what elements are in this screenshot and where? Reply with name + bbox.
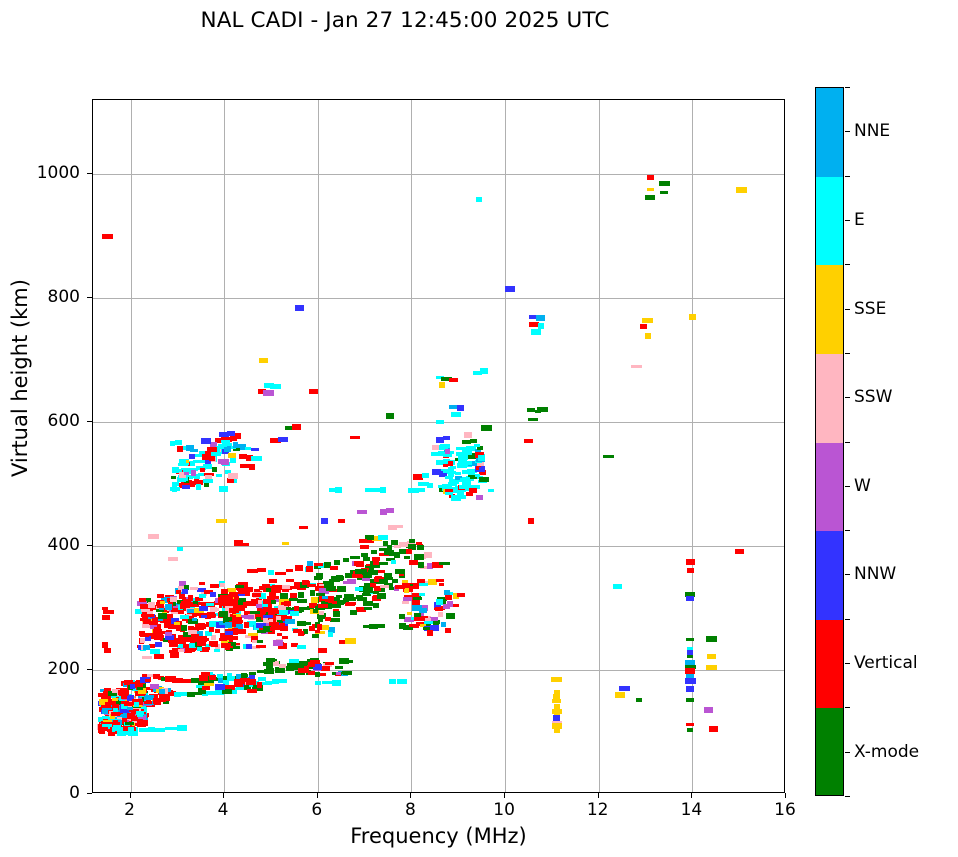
data-point [146, 700, 151, 704]
data-point [266, 658, 275, 662]
data-point [418, 562, 424, 568]
data-point [346, 602, 356, 605]
data-point [237, 606, 245, 611]
data-point [233, 442, 238, 448]
data-point [165, 604, 172, 610]
data-point [263, 390, 274, 396]
data-point [330, 618, 340, 622]
data-point [210, 592, 216, 597]
data-point [150, 684, 159, 689]
data-point [315, 672, 320, 677]
data-point [273, 640, 283, 646]
data-point [139, 598, 146, 602]
data-point [200, 468, 205, 472]
colorbar-boundary-tick [845, 176, 850, 177]
data-point [551, 677, 562, 682]
data-point [148, 602, 155, 608]
data-point [416, 488, 425, 492]
data-point [280, 626, 288, 631]
colorbar-segment-sse[interactable] [816, 265, 843, 354]
colorbar-label-vertical: Vertical [854, 653, 918, 673]
data-point [312, 634, 319, 638]
data-point [380, 487, 386, 493]
data-point [191, 634, 199, 637]
colorbar-segment-ssw[interactable] [816, 354, 843, 443]
data-point [505, 286, 515, 292]
data-point [233, 646, 240, 649]
data-point [212, 467, 217, 472]
data-point [194, 476, 200, 479]
data-point [689, 314, 696, 320]
data-point [354, 561, 364, 566]
data-point [424, 621, 433, 624]
data-point [199, 675, 208, 681]
data-point [207, 612, 215, 618]
data-point [197, 642, 206, 646]
data-point [178, 649, 184, 652]
data-point [279, 679, 287, 683]
data-point [462, 480, 471, 485]
data-point [195, 624, 201, 629]
data-point [295, 305, 304, 311]
data-point [306, 566, 313, 572]
data-point [414, 617, 421, 621]
data-point [318, 604, 328, 608]
data-point [181, 625, 187, 631]
data-point [476, 495, 483, 500]
data-point [456, 447, 466, 450]
data-point [130, 684, 135, 689]
data-point [470, 439, 477, 443]
data-point [386, 508, 394, 513]
data-point [399, 614, 405, 619]
data-point [451, 495, 461, 501]
data-point [127, 707, 133, 710]
data-point [357, 569, 367, 572]
data-point [258, 677, 266, 681]
data-point [209, 456, 215, 461]
data-point [176, 590, 181, 594]
colorbar-segment-nne[interactable] [816, 88, 843, 177]
colorbar-label-w: W [854, 476, 871, 496]
colorbar-label-x-mode: X-mode [854, 742, 919, 762]
data-point [155, 642, 162, 647]
data-point [619, 686, 630, 691]
data-point [199, 606, 208, 611]
colorbar-tick [845, 220, 850, 221]
colorbar-boundary-tick [845, 707, 850, 708]
colorbar-label-nnw: NNW [854, 564, 896, 584]
data-point [104, 648, 111, 653]
data-point [157, 605, 164, 608]
x-tick [223, 793, 224, 798]
data-point [290, 611, 299, 616]
data-point [280, 593, 288, 599]
data-point [102, 615, 110, 620]
data-point [373, 603, 379, 608]
gridline-horizontal [93, 174, 784, 175]
x-tick [410, 793, 411, 798]
data-point [154, 627, 161, 631]
data-point [211, 635, 216, 640]
data-point [436, 420, 444, 424]
data-point [328, 632, 333, 637]
data-point [319, 611, 324, 615]
data-point [418, 482, 429, 486]
data-point [707, 654, 716, 659]
data-point [148, 534, 159, 539]
data-point [330, 566, 338, 570]
data-point [372, 557, 380, 561]
data-point [197, 647, 202, 651]
data-point [315, 681, 321, 685]
data-point [126, 702, 132, 705]
y-tick-label: 200 [0, 659, 80, 679]
data-point [447, 601, 453, 607]
data-point [285, 619, 295, 624]
x-tick [317, 793, 318, 798]
x-tick-label: 8 [405, 800, 416, 820]
data-point [373, 488, 380, 492]
data-point [293, 663, 299, 666]
data-point [419, 583, 428, 586]
data-point [137, 687, 143, 690]
data-point [171, 476, 176, 479]
data-point [350, 610, 357, 615]
data-point [417, 545, 424, 550]
data-point [337, 586, 346, 592]
data-point [168, 625, 175, 629]
data-point [735, 549, 744, 554]
data-point [235, 433, 241, 439]
data-point [378, 535, 388, 540]
data-point [159, 689, 165, 694]
plot-area[interactable] [92, 99, 785, 793]
data-point [686, 698, 694, 702]
data-point [204, 483, 209, 487]
data-point [686, 596, 694, 601]
data-point [377, 593, 386, 599]
colorbar-segment-x-mode[interactable] [816, 708, 843, 796]
data-point [445, 476, 453, 479]
data-point [478, 455, 485, 461]
colorbar-boundary-tick [845, 353, 850, 354]
data-point [412, 605, 422, 611]
data-point [280, 623, 285, 627]
data-point [271, 600, 276, 604]
data-point [174, 622, 180, 625]
data-point [350, 556, 360, 559]
data-point [404, 556, 410, 559]
colorbar-tick [845, 663, 850, 664]
data-point [352, 574, 362, 578]
data-point [234, 679, 242, 685]
data-point [480, 368, 488, 374]
data-point [380, 585, 389, 588]
data-point [475, 474, 480, 477]
data-point [436, 460, 443, 465]
data-point [443, 469, 451, 473]
data-point [342, 671, 348, 674]
data-point [246, 644, 252, 649]
data-point [229, 599, 238, 605]
data-point [286, 607, 291, 610]
y-tick [87, 545, 92, 546]
data-point [386, 413, 394, 419]
data-point [286, 569, 293, 572]
x-tick [598, 793, 599, 798]
data-point [687, 568, 694, 573]
data-point [228, 473, 238, 479]
data-point [316, 593, 325, 596]
data-point [102, 234, 113, 239]
data-point [119, 690, 128, 696]
data-point [359, 539, 367, 543]
data-point [439, 583, 444, 586]
x-tick-label: 16 [774, 800, 796, 820]
y-tick [87, 669, 92, 670]
x-tick [785, 793, 786, 798]
data-point [315, 630, 320, 633]
gridline-horizontal [93, 670, 784, 671]
data-point [336, 595, 342, 598]
data-point [368, 570, 378, 575]
data-point [209, 627, 214, 632]
data-point [267, 518, 274, 524]
data-point [246, 679, 256, 685]
x-tick [504, 793, 505, 798]
data-point [282, 636, 288, 639]
data-point [554, 728, 560, 733]
data-point [631, 365, 642, 368]
data-point [536, 315, 545, 321]
data-point [127, 713, 135, 719]
data-point [297, 599, 307, 603]
data-point [345, 638, 356, 644]
data-point [391, 560, 396, 564]
data-point [216, 474, 222, 477]
data-point [362, 578, 370, 581]
data-point [613, 584, 622, 589]
data-point [221, 459, 229, 465]
data-point [251, 456, 262, 461]
data-point [304, 666, 309, 671]
data-point [647, 175, 654, 180]
data-point [438, 485, 447, 488]
data-point [299, 661, 308, 665]
data-point [329, 488, 335, 492]
gridline-vertical [599, 100, 600, 792]
data-point [189, 454, 195, 459]
data-point [361, 553, 368, 557]
data-point [145, 679, 151, 682]
data-point [192, 604, 197, 607]
data-point [157, 594, 164, 598]
data-point [537, 407, 548, 412]
data-point [235, 585, 244, 588]
data-point [528, 418, 538, 421]
data-point [284, 601, 291, 606]
data-point [476, 197, 482, 202]
data-point [436, 599, 443, 605]
data-point [177, 547, 183, 551]
data-point [322, 681, 332, 684]
data-point [160, 601, 165, 604]
data-point [384, 550, 392, 555]
data-point [313, 609, 318, 613]
data-point [190, 587, 198, 590]
data-point [343, 581, 351, 584]
data-point [687, 655, 693, 658]
data-point [141, 609, 150, 612]
colorbar-label-ssw: SSW [854, 387, 892, 407]
data-point [222, 442, 227, 447]
data-point [427, 630, 433, 636]
data-point [399, 623, 406, 629]
data-point [265, 681, 272, 685]
data-point [150, 649, 160, 654]
colorbar-label-e: E [854, 210, 865, 230]
data-point [143, 619, 151, 624]
page-title: NAL CADI - Jan 27 12:45:00 2025 UTC [0, 8, 810, 33]
data-point [441, 622, 446, 627]
y-axis-label: Virtual height (km) [8, 178, 32, 578]
data-point [230, 458, 236, 463]
data-point [335, 666, 343, 669]
data-point [479, 467, 485, 470]
data-point [282, 542, 289, 545]
data-point [553, 694, 560, 699]
data-point [170, 441, 175, 446]
data-point [709, 726, 718, 732]
data-point [270, 627, 275, 631]
y-tick-label: 0 [0, 783, 80, 803]
data-point [275, 572, 286, 575]
data-point [256, 604, 262, 608]
colorbar[interactable] [815, 87, 844, 796]
data-point [279, 664, 286, 668]
data-point [228, 453, 236, 458]
data-point [379, 579, 388, 584]
data-point [603, 455, 614, 458]
data-point [184, 472, 189, 475]
data-point [469, 488, 477, 493]
data-point [297, 645, 306, 649]
data-point [466, 461, 472, 465]
x-tick-label: 10 [493, 800, 515, 820]
gridline-vertical [505, 100, 506, 792]
y-tick [87, 297, 92, 298]
data-point [202, 454, 210, 460]
data-point [196, 484, 201, 490]
data-point [414, 554, 424, 560]
colorbar-label-nne: NNE [854, 121, 890, 141]
data-point [186, 445, 194, 451]
data-point [164, 623, 169, 628]
data-point [218, 678, 223, 683]
data-point [102, 607, 108, 610]
x-tick-label: 6 [311, 800, 322, 820]
data-point [182, 485, 190, 489]
data-point [145, 614, 154, 617]
colorbar-boundary-tick [845, 796, 850, 797]
data-point [214, 649, 220, 652]
colorbar-tick [845, 397, 850, 398]
data-point [413, 597, 422, 600]
data-point [111, 712, 120, 716]
data-point [446, 613, 455, 619]
data-point [252, 640, 257, 643]
data-point [488, 489, 494, 492]
colorbar-segment-nnw[interactable] [816, 531, 843, 620]
colorbar-tick [845, 309, 850, 310]
data-point [263, 618, 268, 622]
data-point [250, 611, 260, 614]
colorbar-tick [845, 574, 850, 575]
data-point [642, 318, 653, 323]
data-point [445, 449, 450, 454]
data-point [215, 629, 220, 633]
data-point [704, 707, 713, 713]
data-point [317, 624, 322, 630]
ionogram-figure: NAL CADI - Jan 27 12:45:00 2025 UTC 2468… [0, 0, 958, 857]
data-point [448, 461, 453, 466]
colorbar-boundary-tick [845, 530, 850, 531]
data-point [222, 643, 231, 646]
data-point [343, 558, 349, 562]
data-point [220, 583, 225, 587]
data-point [414, 613, 421, 617]
data-point [142, 656, 152, 659]
data-point [439, 562, 450, 565]
data-point [338, 519, 345, 523]
data-point [466, 446, 473, 451]
data-point [686, 686, 694, 692]
data-point [636, 698, 642, 702]
data-point [249, 675, 255, 679]
x-tick-label: 12 [587, 800, 609, 820]
data-point [210, 584, 219, 588]
x-tick [130, 793, 131, 798]
data-point [103, 610, 114, 614]
data-point [456, 452, 466, 456]
data-point [227, 431, 235, 436]
data-point [531, 329, 541, 335]
data-point [257, 568, 266, 572]
data-point [479, 477, 489, 482]
data-point [259, 358, 268, 363]
data-point [431, 452, 438, 456]
data-point [321, 666, 330, 671]
colorbar-segment-e[interactable] [816, 177, 843, 266]
colorbar-segment-w[interactable] [816, 443, 843, 532]
data-point [350, 436, 360, 439]
data-point [458, 458, 467, 464]
data-point [154, 728, 165, 732]
data-point [282, 585, 290, 589]
data-point [316, 573, 323, 579]
data-point [215, 684, 225, 690]
data-point [154, 701, 159, 705]
data-point [237, 629, 246, 634]
data-point [407, 612, 412, 615]
data-point [336, 672, 341, 675]
data-point [397, 679, 407, 684]
data-point [158, 613, 167, 619]
data-point [264, 669, 272, 674]
colorbar-segment-vertical[interactable] [816, 620, 843, 709]
data-point [436, 579, 444, 582]
